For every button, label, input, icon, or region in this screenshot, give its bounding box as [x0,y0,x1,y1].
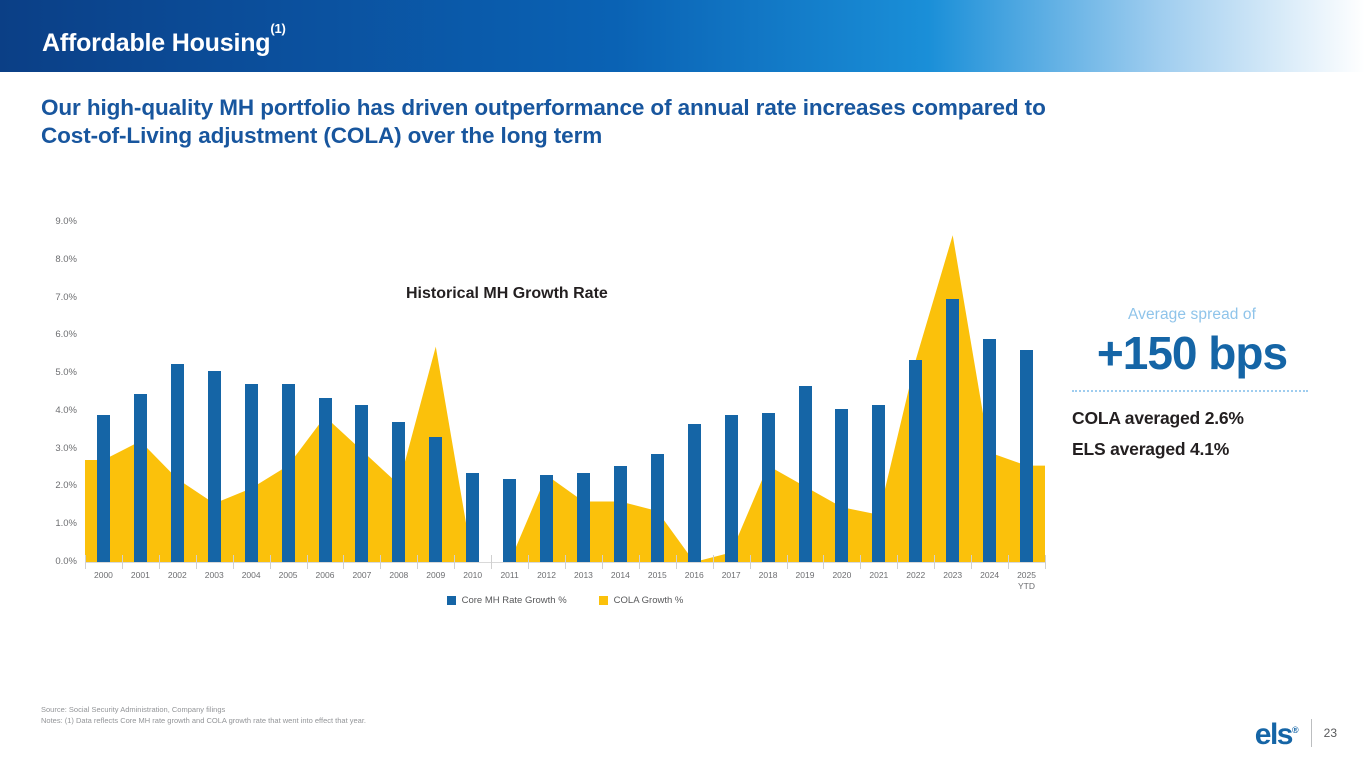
category-separator [971,555,972,569]
x-axis-label: 2016 [676,570,713,581]
x-axis-label: 2022 [897,570,934,581]
legend-swatch-icon [599,596,608,605]
page-number: 23 [1324,726,1337,740]
x-axis-label: 2011 [491,570,528,581]
bar-2001 [134,394,147,562]
category-separator [602,555,603,569]
category-separator [565,555,566,569]
slide-subtitle: Our high-quality MH portfolio has driven… [41,94,1091,150]
bar-2015 [651,454,664,562]
category-separator [750,555,751,569]
els-logo: els® [1255,715,1299,750]
y-axis-tick: 0.0% [17,556,77,567]
footnote-source: Source: Social Security Administration, … [41,704,366,715]
bar-2013 [577,473,590,562]
x-axis-label: 2019 [787,570,824,581]
core-mh-bar-series [85,222,1045,562]
y-axis-tick: 2.0% [17,480,77,491]
y-axis-tick: 7.0% [17,292,77,303]
bar-2020 [835,409,848,562]
bar-2024 [983,339,996,562]
category-separator [823,555,824,569]
chart-legend: Core MH Rate Growth %COLA Growth % [85,595,1045,606]
page-header-banner: Affordable Housing(1) [0,0,1365,72]
x-axis-label: 2002 [159,570,196,581]
y-axis-tick: 1.0% [17,518,77,529]
y-axis-tick: 4.0% [17,405,77,416]
category-separator [897,555,898,569]
category-separator [380,555,381,569]
footer-divider [1311,719,1312,747]
page-title: Affordable Housing(1) [42,29,286,58]
category-separator [1045,555,1046,569]
average-spread-label: Average spread of [1072,306,1312,324]
category-separator [491,555,492,569]
bar-2009 [429,437,442,562]
y-axis-tick: 9.0% [17,216,77,227]
els-logo-text: els [1255,718,1292,751]
footnotes: Source: Social Security Administration, … [41,704,366,726]
x-axis-label: 2008 [380,570,417,581]
y-axis-tick: 5.0% [17,367,77,378]
category-separator [270,555,271,569]
x-axis-label: 2000 [85,570,122,581]
x-axis-label: 2009 [417,570,454,581]
page-title-text: Affordable Housing [42,29,270,57]
y-axis-tick: 8.0% [17,254,77,265]
bar-2025-YTD [1020,350,1033,562]
x-axis-label: 2007 [343,570,380,581]
category-separator [639,555,640,569]
x-axis-label: 2004 [233,570,270,581]
bar-2002 [171,364,184,562]
x-axis-labels: 2000200120022003200420052006200720082009… [85,565,1045,599]
average-spread-value: +150 bps [1072,326,1312,380]
category-separator [860,555,861,569]
summary-panel: Average spread of +150 bps COLA averaged… [1072,306,1312,460]
category-separator [417,555,418,569]
category-separator [1008,555,1009,569]
divider-dotted [1072,390,1308,392]
category-separator [934,555,935,569]
x-axis-label: 2025YTD [1008,570,1045,592]
category-separator [713,555,714,569]
x-axis-label: 2006 [307,570,344,581]
legend-label: COLA Growth % [614,595,684,606]
bar-2019 [799,386,812,562]
chart-container: Historical MH Growth Rate 0.0%1.0%2.0%3.… [0,205,1060,615]
x-axis-label: 2018 [750,570,787,581]
bar-2018 [762,413,775,562]
footer-logo-group: els® 23 [1255,715,1337,750]
x-axis-label: 2017 [713,570,750,581]
bar-2003 [208,371,221,562]
legend-item: Core MH Rate Growth % [447,595,567,606]
stat-cola-average: COLA averaged 2.6% [1072,408,1312,429]
category-separator [196,555,197,569]
y-axis-tick: 3.0% [17,443,77,454]
bar-2006 [319,398,332,562]
category-separator [343,555,344,569]
legend-item: COLA Growth % [599,595,684,606]
x-axis-label: 2010 [454,570,491,581]
category-separator [307,555,308,569]
bar-2017 [725,415,738,562]
bar-2005 [282,384,295,562]
bar-2012 [540,475,553,562]
x-axis-label: 2023 [934,570,971,581]
x-axis-label: 2014 [602,570,639,581]
category-separator [787,555,788,569]
category-separator [159,555,160,569]
x-axis-label: 2012 [528,570,565,581]
category-separator [676,555,677,569]
bar-2021 [872,405,885,562]
category-separator [528,555,529,569]
page-title-footnote-marker: (1) [270,21,285,36]
category-separator [122,555,123,569]
category-separator [454,555,455,569]
x-axis-label: 2020 [823,570,860,581]
bar-2016 [688,424,701,562]
legend-swatch-icon [447,596,456,605]
bar-2014 [614,466,627,562]
legend-label: Core MH Rate Growth % [462,595,567,606]
bar-2008 [392,422,405,562]
bar-2007 [355,405,368,562]
plot-area [85,222,1045,562]
footnote-notes: Notes: (1) Data reflects Core MH rate gr… [41,715,366,726]
bar-2010 [466,473,479,562]
x-axis-label: 2005 [270,570,307,581]
bar-2023 [946,299,959,562]
registered-mark-icon: ® [1292,725,1299,735]
bar-2022 [909,360,922,562]
bar-2004 [245,384,258,562]
category-separator [85,555,86,569]
x-axis-label: 2003 [196,570,233,581]
x-axis-label: 2001 [122,570,159,581]
y-axis-tick: 6.0% [17,329,77,340]
category-separator [233,555,234,569]
x-axis-label: 2013 [565,570,602,581]
y-axis: 0.0%1.0%2.0%3.0%4.0%5.0%6.0%7.0%8.0%9.0% [0,205,85,580]
bar-2011 [503,479,516,562]
stat-els-average: ELS averaged 4.1% [1072,439,1312,460]
x-axis-label: 2024 [971,570,1008,581]
x-axis-label: 2015 [639,570,676,581]
bar-2000 [97,415,110,562]
x-axis-label: 2021 [860,570,897,581]
